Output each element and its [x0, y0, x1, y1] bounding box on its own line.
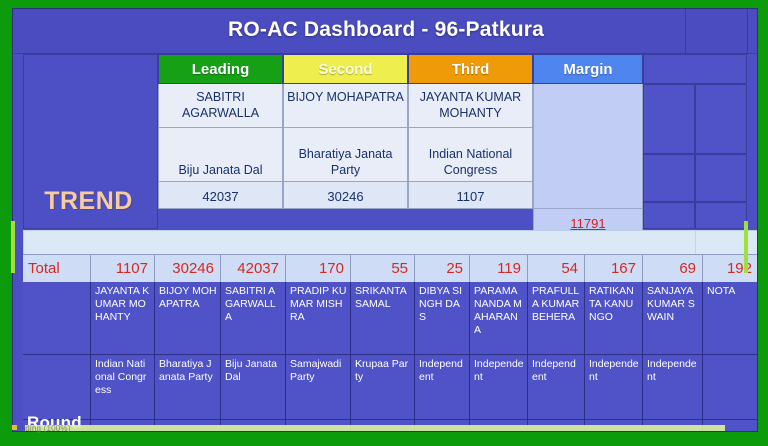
- dashboard-screen: RO-AC Dashboard - 96-Patkura TREND Leadi…: [0, 0, 768, 446]
- trend-margin-blank: [533, 84, 643, 209]
- trend-panel: TREND: [23, 54, 158, 229]
- candidate-party-cell-3: Samajwadi Party: [286, 355, 351, 420]
- right-green-edge: [744, 221, 748, 273]
- trend-column-third: Third JAYANTA KUMAR MOHANTY Indian Natio…: [408, 54, 533, 209]
- trend-second-candidate: BIJOY MOHAPATRA: [283, 84, 408, 128]
- totals-value-4: 55: [351, 255, 415, 282]
- candidate-party-cell-2: Biju Janata Dal: [221, 355, 286, 420]
- trend-label: TREND: [24, 187, 153, 216]
- candidate-cell-blank: [23, 282, 91, 355]
- totals-value-8: 167: [585, 255, 643, 282]
- status-indicator-icon: [12, 425, 17, 430]
- totals-value-10: 192: [703, 255, 758, 282]
- trend-second-party: Bharatiya Janata Party: [283, 128, 408, 182]
- trend-third-party: Indian National Congress: [408, 128, 533, 182]
- totals-value-7: 54: [528, 255, 585, 282]
- totals-value-2: 42037: [221, 255, 286, 282]
- totals-value-9: 69: [643, 255, 703, 282]
- candidate-name-cell-4: SRIKANTA SAMAL: [351, 282, 415, 355]
- spacer-divider: [695, 231, 696, 255]
- candidate-party-cell-4: Krupaa Party: [351, 355, 415, 420]
- trend-third-party-text: Indian National Congress: [411, 146, 530, 178]
- trend-leading-votes: 42037: [158, 182, 283, 209]
- trend-third-votes: 1107: [408, 182, 533, 209]
- candidate-name-cell-8: RATIKANTA KANUNGO: [585, 282, 643, 355]
- candidate-name-cell-5: DIBYA SINGH DAS: [415, 282, 470, 355]
- trend-leading-candidate: SABITRI AGARWALLA: [158, 84, 283, 128]
- candidate-party-cell-5: Independent: [415, 355, 470, 420]
- trend-third-candidate: JAYANTA KUMAR MOHANTY: [408, 84, 533, 128]
- candidate-name-cell-6: PARAMANANDA MAHARANA: [470, 282, 528, 355]
- filler-cell-1: [643, 54, 747, 84]
- totals-value-3: 170: [286, 255, 351, 282]
- candidate-party-cell-10: [703, 355, 758, 420]
- totals-value-1: 30246: [155, 255, 221, 282]
- candidate-party-cell-7: Independent: [528, 355, 585, 420]
- spacer-band: [23, 230, 758, 256]
- candidate-party-cell-8: Independent: [585, 355, 643, 420]
- bottom-progress-bar: [25, 425, 725, 432]
- title-bar: RO-AC Dashboard - 96-Patkura: [13, 9, 758, 54]
- trend-leading-party-text: Biju Janata Dal: [161, 162, 280, 178]
- totals-value-6: 119: [470, 255, 528, 282]
- status-text: ...ding (100%): [18, 424, 71, 433]
- left-green-edge: [11, 221, 15, 273]
- candidate-party-cell-6: Independent: [470, 355, 528, 420]
- trend-header-margin: Margin: [533, 54, 643, 84]
- trend-column-second: Second BIJOY MOHAPATRA Bharatiya Janata …: [283, 54, 408, 209]
- title-divider-1: [685, 9, 686, 53]
- page-title: RO-AC Dashboard - 96-Patkura: [21, 18, 751, 42]
- trend-header-second: Second: [283, 54, 408, 84]
- filler-cell-5: [695, 154, 747, 202]
- dashboard-frame: RO-AC Dashboard - 96-Patkura TREND Leadi…: [12, 8, 758, 432]
- candidate-party-cell-9: Independent: [643, 355, 703, 420]
- candidate-name-cell-7: PRAFULLA KUMAR BEHERA: [528, 282, 585, 355]
- filler-cell-3: [695, 84, 747, 154]
- filler-cell-6: [643, 202, 695, 229]
- filler-cell-2: [643, 84, 695, 154]
- candidate-grid: JAYANTA KUMAR MOHANTYIndian National Con…: [23, 282, 758, 432]
- candidate-party-cell-0: Indian National Congress: [91, 355, 155, 420]
- trend-leading-party: Biju Janata Dal: [158, 128, 283, 182]
- filler-cell-4: [643, 154, 695, 202]
- trend-second-party-text: Bharatiya Janata Party: [286, 146, 405, 178]
- trend-column-margin: Margin 11791: [533, 54, 643, 236]
- trend-second-votes: 30246: [283, 182, 408, 209]
- trend-column-leading: Leading SABITRI AGARWALLA Biju Janata Da…: [158, 54, 283, 209]
- totals-value-5: 25: [415, 255, 470, 282]
- totals-value-0: 1107: [91, 255, 155, 282]
- totals-label: Total: [23, 255, 91, 282]
- trend-header-leading: Leading: [158, 54, 283, 84]
- trend-header-third: Third: [408, 54, 533, 84]
- candidate-name-cell-9: SANJAYA KUMAR SWAIN: [643, 282, 703, 355]
- filler-cell-7: [695, 202, 747, 229]
- candidate-name-cell-3: PRADIP KUMAR MISHRA: [286, 282, 351, 355]
- title-divider-2: [747, 9, 748, 53]
- candidate-name-cell-10: NOTA: [703, 282, 758, 355]
- candidate-name-cell-1: BIJOY MOHAPATRA: [155, 282, 221, 355]
- totals-row: Total1107302464203717055251195416769192: [23, 254, 758, 282]
- candidate-name-cell-2: SABITRI AGARWALLA: [221, 282, 286, 355]
- party-cell-blank: [23, 355, 91, 420]
- candidate-party-cell-1: Bharatiya Janata Party: [155, 355, 221, 420]
- candidate-name-cell-0: JAYANTA KUMAR MOHANTY: [91, 282, 155, 355]
